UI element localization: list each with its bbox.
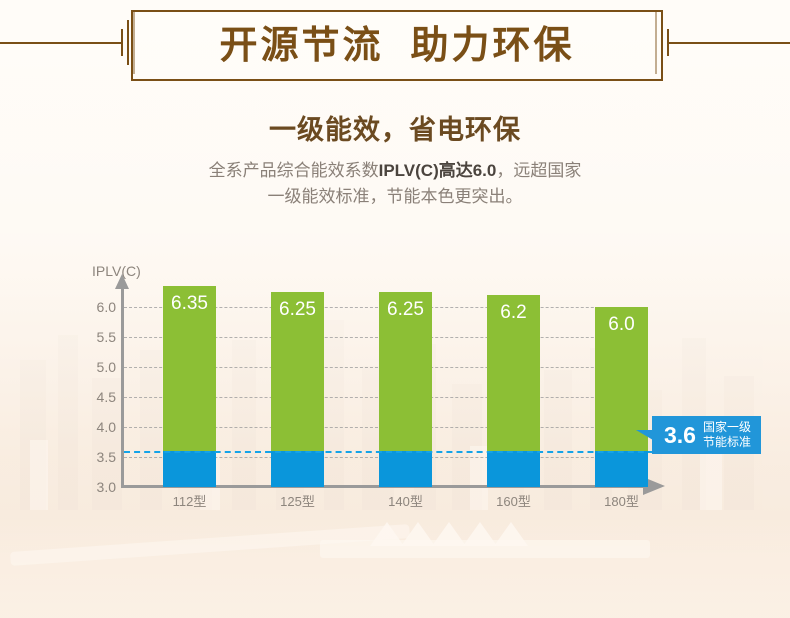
y-tick-label: 3.0 (76, 479, 116, 495)
gridline (124, 487, 644, 488)
banner-rule-left (0, 42, 123, 44)
banner-tick-left-1 (121, 29, 123, 56)
standard-badge: 3.6 国家一级 节能标准 (652, 416, 761, 454)
y-tick-label: 6.0 (76, 299, 116, 315)
efficiency-bar-chart: IPLV(C) 3.03.54.04.55.05.56.0 6.356.256.… (0, 255, 790, 515)
bar-value-label: 6.25 (379, 299, 432, 321)
bar-segment-blue (487, 451, 540, 487)
banner-title: 开源节流 助力环保 (219, 27, 574, 65)
badge-label-line1: 国家一级 (703, 420, 751, 434)
section-subtitle: 一级能效，省电环保 (0, 108, 790, 147)
section-description: 全系产品综合能效系数IPLV(C)高达6.0，远超国家 一级能效标准，节能本色更… (95, 158, 695, 211)
x-category-label: 112型 (150, 491, 230, 510)
x-category-label: 140型 (366, 491, 446, 510)
x-category-label: 180型 (582, 491, 662, 510)
badge-label: 国家一级 节能标准 (703, 420, 751, 450)
y-tick-label: 5.5 (76, 329, 116, 345)
desc-part-1: 全系产品综合能效系数 (209, 161, 379, 180)
badge-value: 3.6 (664, 422, 696, 449)
bar-segment-blue (271, 451, 324, 487)
bar-value-label: 6.0 (595, 314, 648, 336)
x-category-label: 160型 (474, 491, 554, 510)
y-tick-label: 4.0 (76, 419, 116, 435)
bar-segment-blue (379, 451, 432, 487)
banner-box: 开源节流 助力环保 (131, 10, 663, 81)
y-tick-label: 5.0 (76, 359, 116, 375)
bar-value-label: 6.2 (487, 302, 540, 324)
badge-pointer-icon (636, 430, 653, 440)
y-tick-label: 3.5 (76, 449, 116, 465)
bar-segment-blue (163, 451, 216, 487)
y-tick-label: 4.5 (76, 389, 116, 405)
title-banner: 开源节流 助力环保 (0, 0, 790, 90)
x-category-label: 125型 (258, 491, 338, 510)
bar-value-label: 6.25 (271, 299, 324, 321)
banner-tick-left-2 (127, 20, 129, 65)
desc-line-2: 一级能效标准，节能本色更突出。 (268, 187, 523, 206)
banner-tick-right-1 (667, 29, 669, 56)
badge-label-line2: 节能标准 (703, 435, 751, 449)
desc-highlight: IPLV(C)高达6.0 (379, 161, 497, 180)
threshold-line (124, 451, 664, 453)
bar-value-label: 6.35 (163, 293, 216, 315)
banner-rule-right (667, 42, 790, 44)
desc-part-2: ，远超国家 (496, 161, 581, 180)
bar-segment-blue (595, 451, 648, 487)
